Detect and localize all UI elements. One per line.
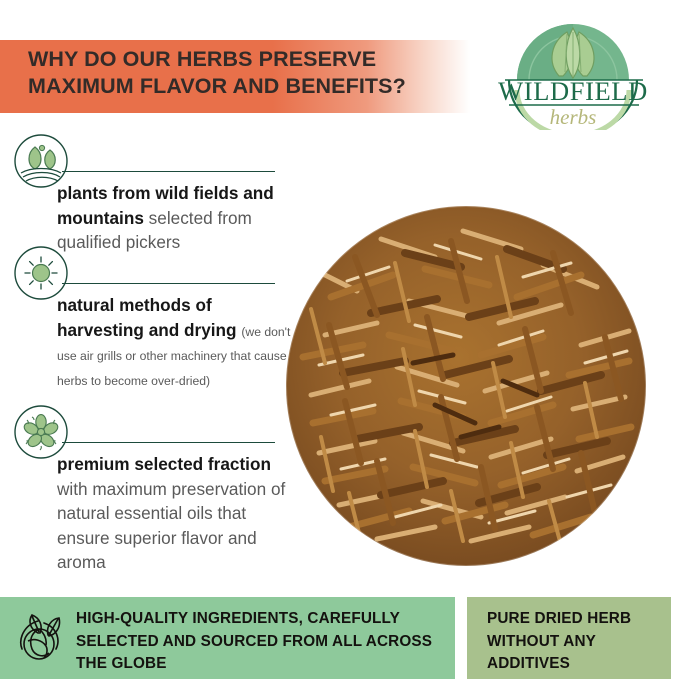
feature-divider [62, 283, 275, 284]
brand-logo: WILDFIELD herbs [487, 18, 660, 130]
feature-lead: premium selected fraction [57, 454, 271, 474]
herb-pile-graphic [285, 205, 647, 567]
globe-leaf-icon [14, 611, 68, 665]
page-title: WHY DO OUR HERBS PRESERVE MAXIMUM FLAVOR… [28, 46, 458, 100]
bottom-banner-right: PURE DRIED HERB WITHOUT ANY ADDITIVES [467, 597, 671, 679]
logo-graphic: WILDFIELD herbs [487, 18, 660, 130]
logo-sub-name: herbs [550, 105, 597, 129]
bottom-banner-left: HIGH-QUALITY INGREDIENTS, CAREFULLY SELE… [0, 597, 455, 679]
feature-divider [62, 442, 275, 443]
banner-right-text: PURE DRIED HERB WITHOUT ANY ADDITIVES [487, 608, 667, 676]
feature-text: premium selected fraction with maximum p… [57, 452, 300, 575]
feature-text: plants from wild fields and mountains se… [57, 181, 300, 255]
dried-herb-pile-photo [285, 205, 647, 567]
logo-brand-name: WILDFIELD [498, 76, 648, 106]
feature-lead: natural methods of harvesting and drying [57, 295, 237, 340]
infographic-page: WHY DO OUR HERBS PRESERVE MAXIMUM FLAVOR… [0, 0, 679, 679]
feature-divider [62, 171, 275, 172]
feature-text: natural methods of harvesting and drying… [57, 293, 300, 391]
feature-rest: with maximum preservation of natural ess… [57, 479, 285, 573]
banner-left-text: HIGH-QUALITY INGREDIENTS, CAREFULLY SELE… [76, 608, 448, 676]
